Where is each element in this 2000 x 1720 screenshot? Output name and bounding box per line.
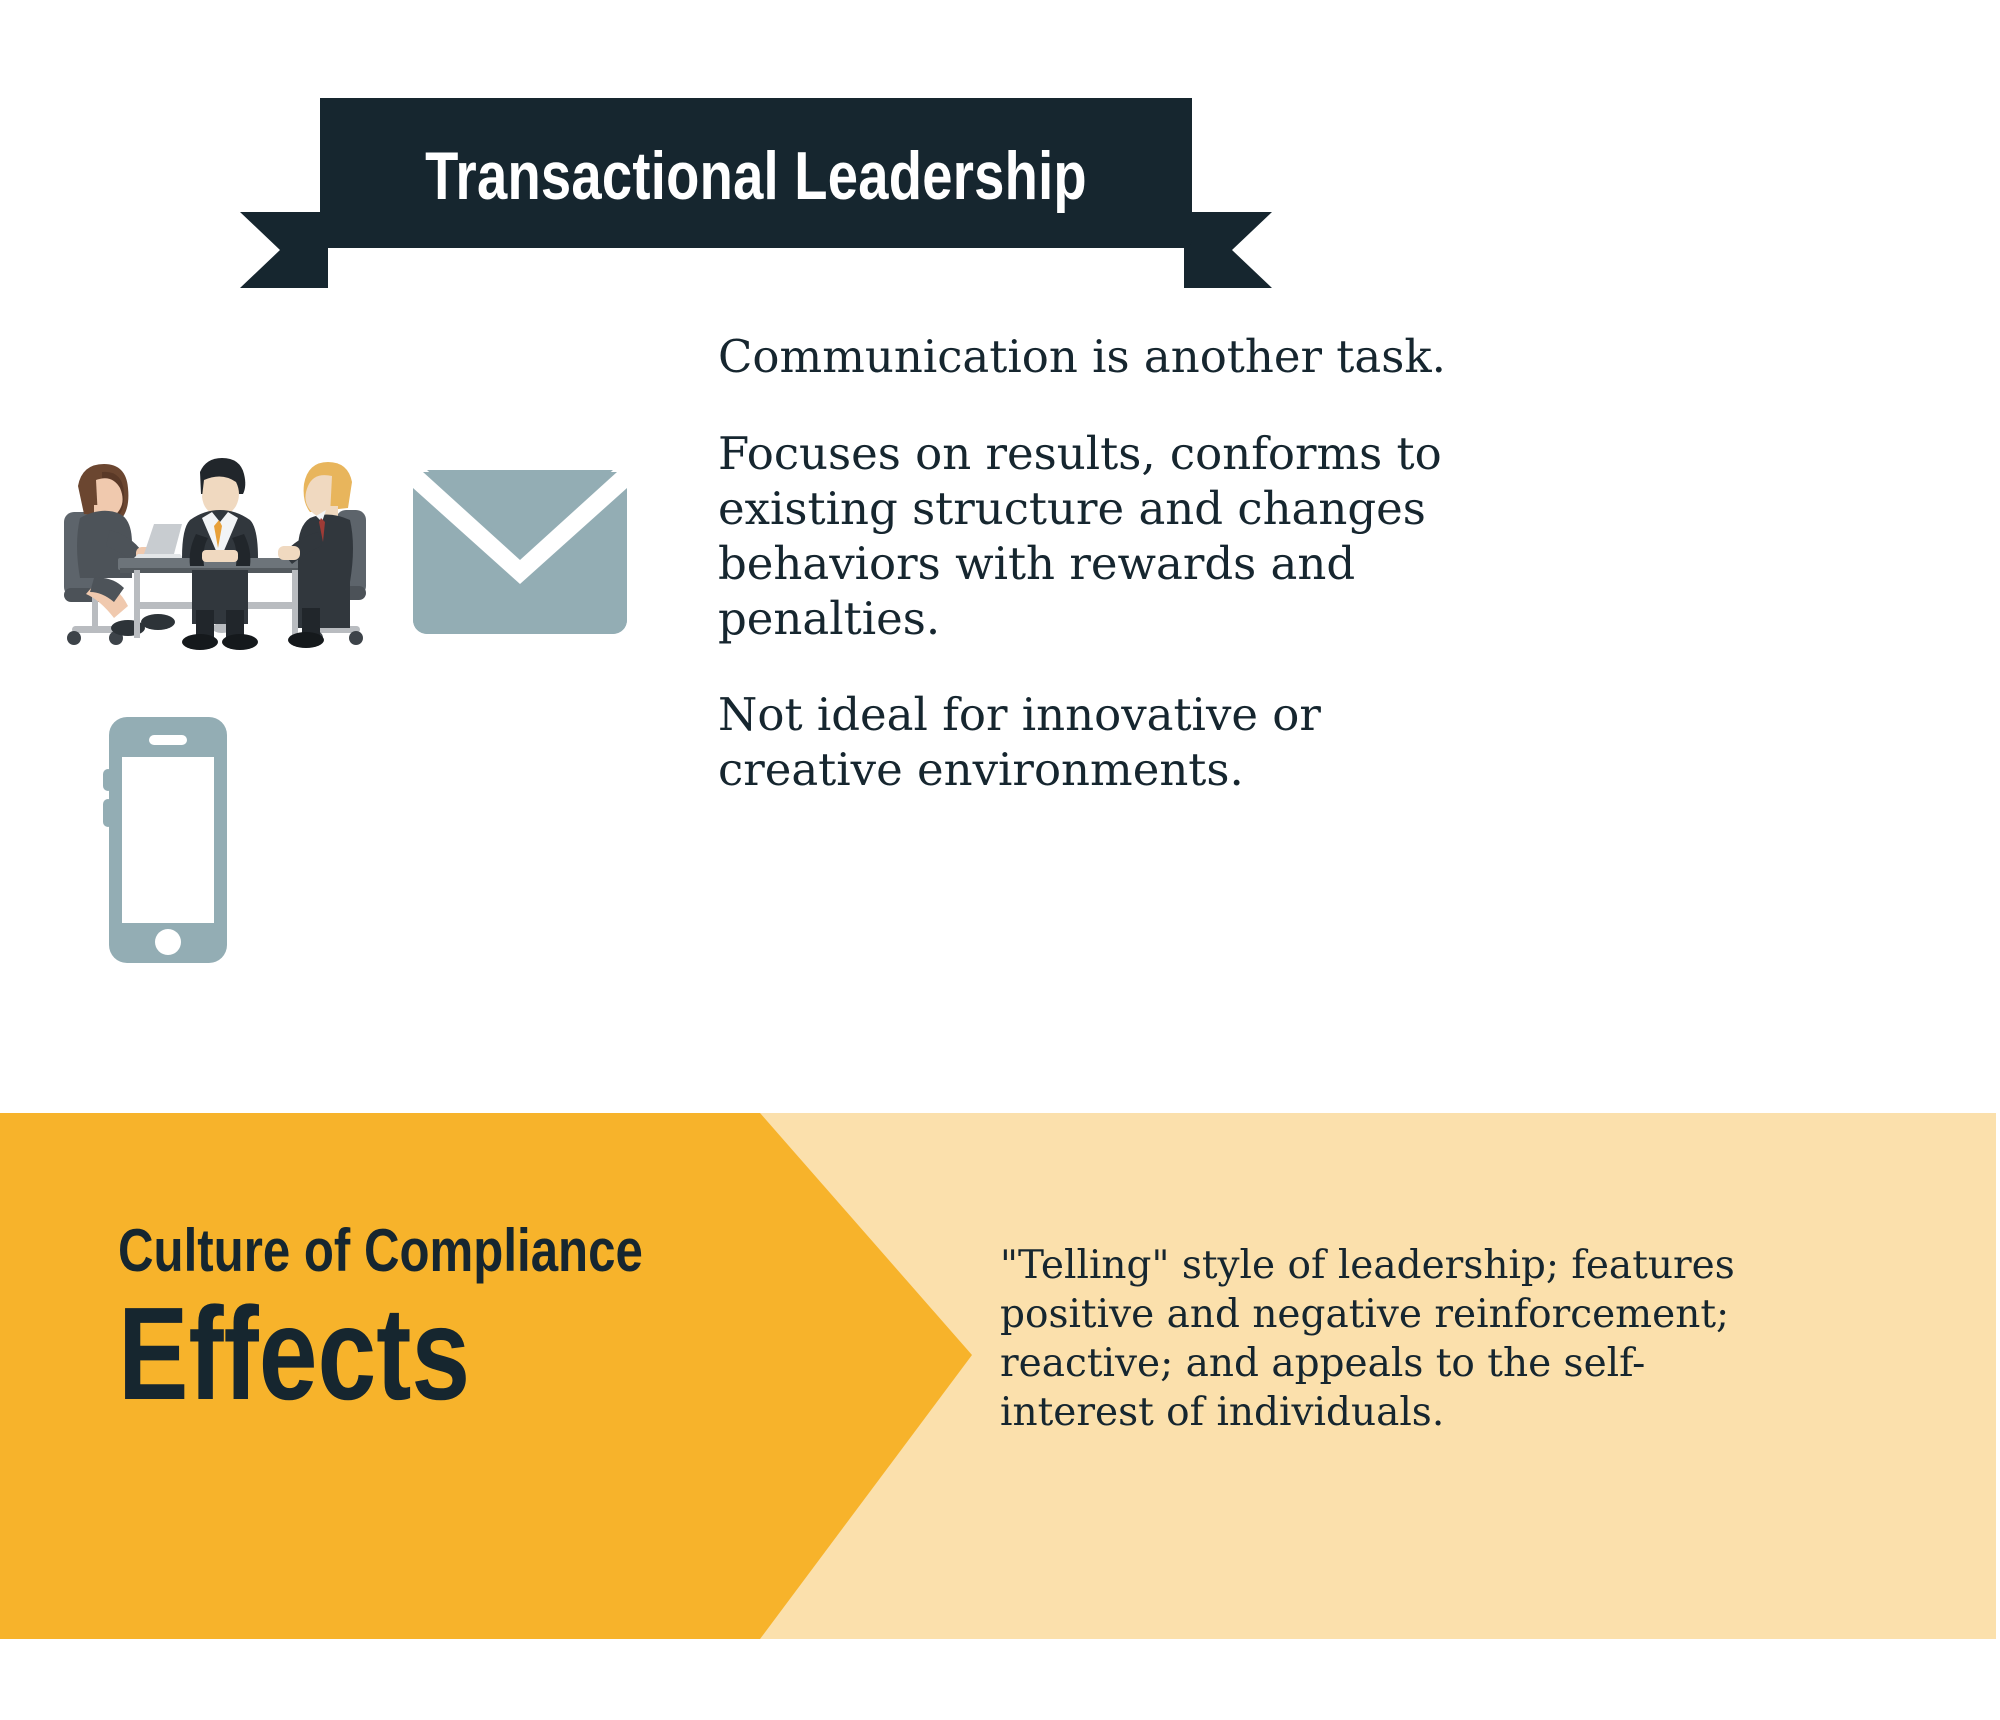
- description-paragraph-1: Communication is another task.: [718, 330, 1508, 385]
- person-man-center: [182, 458, 258, 650]
- phone-home-button: [155, 929, 181, 955]
- phone-speaker: [149, 735, 187, 745]
- description-paragraph-2: Focuses on results, conforms to existing…: [718, 427, 1508, 647]
- page-title: Transactional Leadership: [404, 98, 1108, 254]
- effects-eyebrow: Culture of Compliance: [118, 1221, 643, 1281]
- description-text-block: Communication is another task. Focuses o…: [718, 330, 1508, 798]
- effects-heading-group: Culture of Compliance Effects: [118, 1221, 758, 1422]
- person-man-right: [278, 462, 353, 648]
- mobile-phone-icon: [95, 715, 240, 965]
- envelope-icon: [405, 470, 635, 640]
- ribbon-left-tail: [240, 212, 328, 288]
- title-ribbon-banner: Transactional Leadership: [236, 92, 1276, 292]
- business-meeting-icon: [50, 450, 380, 665]
- effects-description: "Telling" style of leadership; features …: [1000, 1241, 1790, 1438]
- phone-screen: [122, 757, 214, 923]
- laptop: [130, 524, 186, 562]
- effects-title: Effects: [118, 1287, 630, 1422]
- effects-band: Culture of Compliance Effects "Telling" …: [0, 1113, 2000, 1639]
- description-paragraph-3: Not ideal for innovative or creative env…: [718, 688, 1508, 798]
- icon-column: [40, 440, 680, 1000]
- ribbon-right-tail: [1184, 212, 1272, 288]
- infographic-canvas: Transactional Leadership: [0, 0, 2000, 1720]
